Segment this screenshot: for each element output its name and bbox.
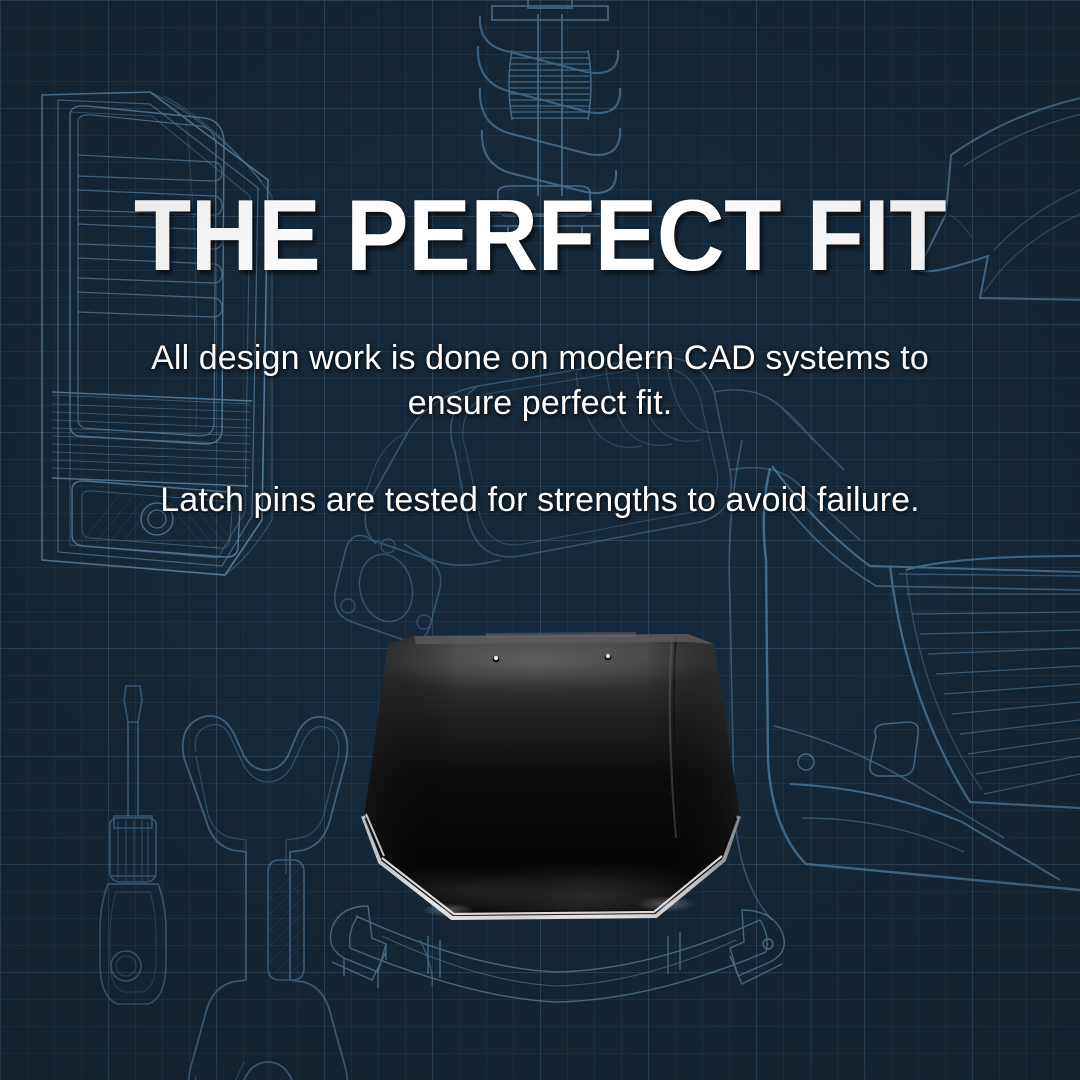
body-paragraph-1-text: All design work is done on modern CAD sy… — [0, 336, 1080, 426]
page-headline: THE PERFECT FIT — [38, 186, 1042, 287]
hood-body — [336, 628, 768, 930]
body-paragraph-2: Latch pins are tested for strengths to a… — [0, 478, 1080, 523]
blueprint-wrench — [183, 716, 348, 1080]
body-paragraph-1: All design work is done on modern CAD sy… — [0, 336, 1080, 426]
body-paragraph-2-text: Latch pins are tested for strengths to a… — [0, 478, 1080, 523]
promo-canvas: THE PERFECT FIT All design work is done … — [0, 0, 1080, 1080]
blueprint-screwdriver — [100, 686, 166, 1004]
product-image-car-hood — [336, 628, 768, 928]
